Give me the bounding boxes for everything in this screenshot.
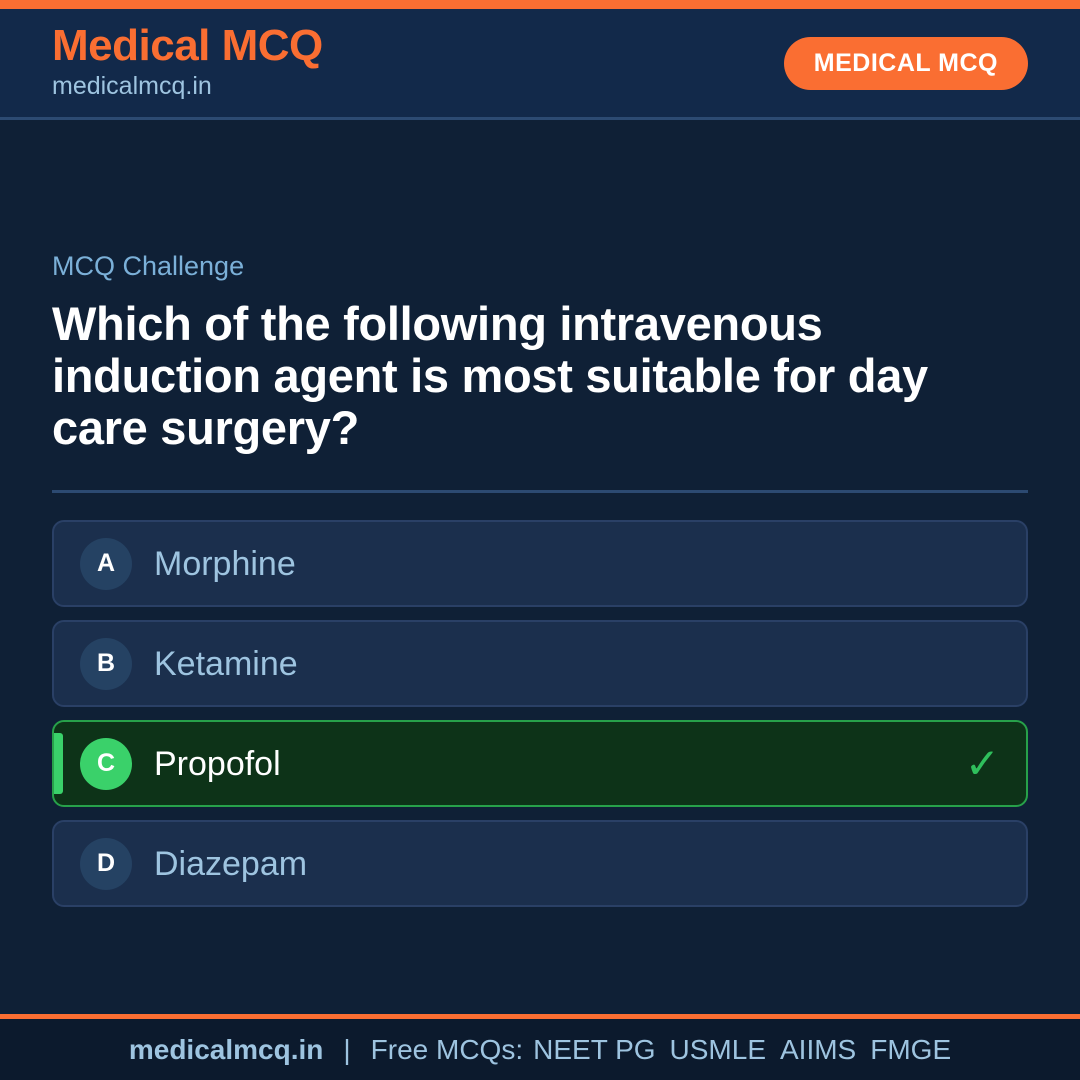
top-accent-bar [0,0,1080,9]
option-row-c[interactable]: C Propofol ✓ [52,720,1028,807]
footer-site: medicalmcq.in [129,1034,324,1066]
footer-exam-fmge: FMGE [870,1034,951,1066]
option-key-b: B [80,638,132,690]
footer-separator: | [343,1034,350,1066]
option-row-a[interactable]: A Morphine [52,520,1028,607]
mcq-challenge-kicker: MCQ Challenge [52,253,1028,280]
footer-exam-aiims: AIIMS [780,1034,856,1066]
option-row-d[interactable]: D Diazepam [52,820,1028,907]
option-label-b: Ketamine [154,647,298,681]
footer-exam-neet-pg: NEET PG [533,1034,655,1066]
brand-title: Medical MCQ [52,24,323,69]
option-label-c: Propofol [154,747,281,781]
correct-accent-bar [54,733,63,794]
main-content: MCQ Challenge Which of the following int… [0,253,1080,907]
option-label-a: Morphine [154,547,296,581]
option-key-d: D [80,838,132,890]
page-header: Medical MCQ medicalmcq.in MEDICAL MCQ [0,9,1080,120]
option-row-b[interactable]: B Ketamine [52,620,1028,707]
header-badge: MEDICAL MCQ [784,37,1028,90]
option-label-d: Diazepam [154,847,307,881]
option-key-c: C [80,738,132,790]
footer-exams-label: Free MCQs: [371,1034,523,1066]
brand-subtitle: medicalmcq.in [52,71,323,102]
footer-exam-usmle: USMLE [670,1034,766,1066]
check-icon: ✓ [965,743,1000,785]
option-key-a: A [80,538,132,590]
brand: Medical MCQ medicalmcq.in [52,24,323,102]
page-footer: medicalmcq.in | Free MCQs: NEET PG USMLE… [0,1014,1080,1080]
footer-content: medicalmcq.in | Free MCQs: NEET PG USMLE… [129,1034,951,1066]
question-text: Which of the following intravenous induc… [52,298,982,454]
question-divider [52,490,1028,493]
options-list: A Morphine B Ketamine C Propofol ✓ D Dia… [52,520,1028,907]
